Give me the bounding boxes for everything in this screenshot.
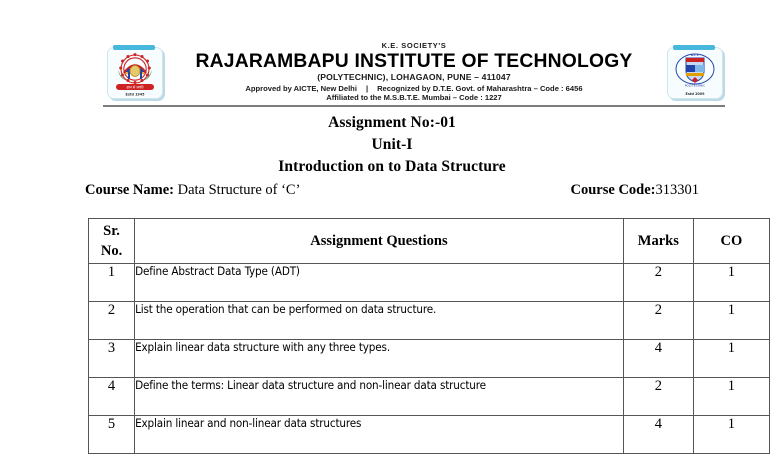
table-row: 1 Define Abstract Data Type (ADT) 2 1: [89, 264, 770, 302]
table-row: 3 Explain linear data structure with any…: [89, 340, 770, 378]
course-name-label: Course Name:: [85, 182, 174, 198]
course-code-label: Course Code:: [571, 182, 656, 198]
left-logo-artwork: ज्ञान से प्रगति Estd 1945: [108, 48, 162, 98]
sr-no-line-1: Sr.: [89, 221, 134, 241]
cell-marks: 2: [623, 302, 693, 340]
assignment-title: Assignment No:-01: [0, 112, 784, 134]
unit-title: Unit-I: [0, 134, 784, 156]
svg-text:ज्ञान से प्रगति: ज्ञान से प्रगति: [127, 84, 145, 89]
assignment-questions-table: Sr. No. Assignment Questions Marks CO 1 …: [88, 218, 770, 454]
accreditation-separator: |: [357, 84, 377, 93]
course-info-row: Course Name: Data Structure of ‘C’ Cours…: [85, 182, 699, 199]
cell-marks: 2: [623, 264, 693, 302]
course-code: Course Code:313301: [571, 182, 699, 199]
svg-text:POLYTECHNIC: POLYTECHNIC: [685, 83, 706, 87]
letterhead: ज्ञान से प्रगति Estd 1945 K.E. SOCIETY'S…: [103, 42, 725, 102]
cell-sr-no: 4: [89, 378, 135, 416]
cell-sr-no: 2: [89, 302, 135, 340]
cell-question: List the operation that can be performed…: [135, 302, 624, 340]
course-name-value: Data Structure of ‘C’: [174, 182, 300, 198]
cell-question: Define Abstract Data Type (ADT): [135, 264, 624, 302]
cell-sr-no: 3: [89, 340, 135, 378]
course-name: Course Name: Data Structure of ‘C’: [85, 182, 300, 199]
cell-question: Explain linear data structure with any t…: [135, 340, 624, 378]
table-row: 4 Define the terms: Linear data structur…: [89, 378, 770, 416]
cell-question: Define the terms: Linear data structure …: [135, 378, 624, 416]
cell-marks: 4: [623, 340, 693, 378]
table-header-row: Sr. No. Assignment Questions Marks CO: [89, 219, 770, 264]
cell-co: 1: [693, 302, 769, 340]
cell-co: 1: [693, 416, 769, 454]
cell-sr-no: 5: [89, 416, 135, 454]
cell-co: 1: [693, 378, 769, 416]
cell-co: 1: [693, 264, 769, 302]
table-row: 5 Explain linear and non-linear data str…: [89, 416, 770, 454]
course-code-value: 313301: [656, 182, 700, 198]
left-logo-cap: [113, 45, 155, 50]
cell-sr-no: 1: [89, 264, 135, 302]
letterhead-text: K.E. SOCIETY'S RAJARAMBAPU INSTITUTE OF …: [165, 42, 663, 102]
column-header-sr-no: Sr. No.: [89, 219, 135, 264]
table-body: 1 Define Abstract Data Type (ADT) 2 1 2 …: [89, 264, 770, 454]
right-logo-artwork: R.I.T. POLYTECHNIC Estd 2009: [668, 48, 722, 98]
recognized-dte: Recognized by D.T.E. Govt. of Maharashtr…: [377, 84, 583, 93]
cell-question: Explain linear and non-linear data struc…: [135, 416, 624, 454]
cell-co: 1: [693, 340, 769, 378]
campus-line: (POLYTECHNIC), LOHAGAON, PUNE – 411047: [167, 73, 661, 82]
right-logo-plate: R.I.T. POLYTECHNIC Estd 2009: [667, 47, 723, 99]
letterhead-divider: [103, 105, 725, 107]
document-title-block: Assignment No:-01 Unit-I Introduction on…: [0, 112, 784, 178]
institute-name: RAJARAMBAPU INSTITUTE OF TECHNOLOGY: [169, 51, 658, 71]
svg-text:R.I.T.: R.I.T.: [691, 53, 700, 57]
column-header-marks: Marks: [623, 219, 693, 264]
affiliation-line: Affiliated to the M.S.B.T.E. Mumbai – Co…: [167, 94, 661, 102]
accreditation-line: Approved by AICTE, New Delhi|Recognized …: [167, 85, 661, 93]
cell-marks: 2: [623, 378, 693, 416]
left-logo-plate: ज्ञान से प्रगति Estd 1945: [107, 47, 163, 99]
svg-text:Estd 2009: Estd 2009: [686, 92, 706, 96]
table-row: 2 List the operation that can be perform…: [89, 302, 770, 340]
approved-aicte: Approved by AICTE, New Delhi: [245, 84, 357, 93]
topic-title: Introduction on to Data Structure: [0, 156, 784, 178]
ke-society-emblem-logo: ज्ञान से प्रगति Estd 1945: [103, 45, 165, 100]
column-header-questions: Assignment Questions: [135, 219, 624, 264]
sr-no-line-2: No.: [89, 241, 134, 261]
rit-institute-crest-logo: R.I.T. POLYTECHNIC Estd 2009: [663, 45, 725, 100]
cell-marks: 4: [623, 416, 693, 454]
society-name: K.E. SOCIETY'S: [167, 42, 661, 50]
svg-text:Estd 1945: Estd 1945: [126, 92, 146, 96]
column-header-co: CO: [693, 219, 769, 264]
right-logo-cap: [673, 45, 715, 50]
